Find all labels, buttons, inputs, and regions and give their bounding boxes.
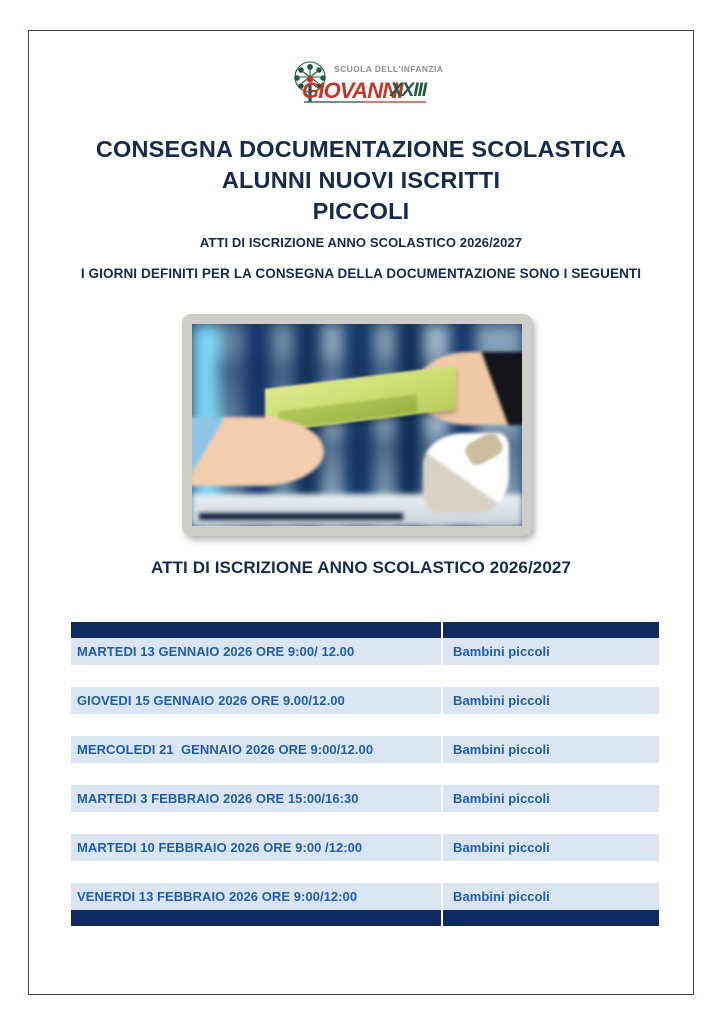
logo-roman-text: XXIII xyxy=(390,80,426,102)
table-spacer-row xyxy=(70,665,660,687)
table-cell-group: Bambini piccoli xyxy=(442,638,660,665)
table-row[interactable]: VENERDI 13 FEBBRAIO 2026 ORE 9:00/12:00 … xyxy=(70,883,660,910)
table-cell-date: MARTEDI 3 FEBBRAIO 2026 ORE 15:00/16:30 xyxy=(70,785,442,812)
table-cell-group: Bambini piccoli xyxy=(442,687,660,714)
table-cell-date: MARTEDI 13 GENNAIO 2026 ORE 9:00/ 12.00 xyxy=(70,638,442,665)
table-spacer-row xyxy=(70,714,660,736)
photo-desk-edge xyxy=(199,513,404,520)
table-cell-date: MERCOLEDI 21 GENNAIO 2026 ORE 9:00/12.00 xyxy=(70,736,442,763)
table-footer-cell-date xyxy=(70,910,442,926)
table-spacer-row xyxy=(70,861,660,883)
logo-underline xyxy=(304,101,426,103)
schedule-table: MARTEDI 13 GENNAIO 2026 ORE 9:00/ 12.00 … xyxy=(69,622,661,926)
table-cell-date: VENERDI 13 FEBBRAIO 2026 ORE 9:00/12:00 xyxy=(70,883,442,910)
table-cell-group: Bambini piccoli xyxy=(442,883,660,910)
table-row[interactable]: MERCOLEDI 21 GENNAIO 2026 ORE 9:00/12.00… xyxy=(70,736,660,763)
subtitle-school-year: ATTI DI ISCRIZIONE ANNO SCOLASTICO 2026/… xyxy=(29,231,693,255)
table-footer-cell-group xyxy=(442,910,660,926)
table-row[interactable]: MARTEDI 10 FEBBRAIO 2026 ORE 9:00 /12:00… xyxy=(70,834,660,861)
photo-hand-left xyxy=(192,417,324,486)
table-row[interactable]: GIOVEDI 15 GENNAIO 2026 ORE 9.00/12.00 B… xyxy=(70,687,660,714)
subtitle-instructions: I GIORNI DEFINITI PER LA CONSEGNA DELLA … xyxy=(29,263,693,285)
table-cell-date: GIOVEDI 15 GENNAIO 2026 ORE 9.00/12.00 xyxy=(70,687,442,714)
document-handover-photo xyxy=(192,324,522,526)
table-row[interactable]: MARTEDI 13 GENNAIO 2026 ORE 9:00/ 12.00 … xyxy=(70,638,660,665)
table-cell-group: Bambini piccoli xyxy=(442,736,660,763)
document-title-block: CONSEGNA DOCUMENTAZIONE SCOLASTICA ALUNN… xyxy=(29,134,693,285)
table-cell-group: Bambini piccoli xyxy=(442,834,660,861)
photo-caption: ATTI DI ISCRIZIONE ANNO SCOLASTICO 2026/… xyxy=(29,558,693,578)
page-title-line-3: PICCOLI xyxy=(29,196,693,227)
schedule-table-wrap: MARTEDI 13 GENNAIO 2026 ORE 9:00/ 12.00 … xyxy=(69,622,659,926)
page-title-line-1: CONSEGNA DOCUMENTAZIONE SCOLASTICA xyxy=(29,134,693,165)
table-cell-group: Bambini piccoli xyxy=(442,785,660,812)
photo-frame xyxy=(182,314,532,536)
table-cell-date: MARTEDI 10 FEBBRAIO 2026 ORE 9:00 /12:00 xyxy=(70,834,442,861)
logo-school-text: SCUOLA DELL'INFANZIA xyxy=(334,64,443,74)
table-header-band xyxy=(70,622,660,638)
table-spacer-row xyxy=(70,763,660,785)
page-title-line-2: ALUNNI NUOVI ISCRITTI xyxy=(29,165,693,196)
table-header-cell-date xyxy=(70,622,442,638)
school-logo: SCUOLA DELL'INFANZIA GIOVANNI XXIII xyxy=(29,59,693,111)
table-footer-band xyxy=(70,910,660,926)
page-border-frame: SCUOLA DELL'INFANZIA GIOVANNI XXIII CONS… xyxy=(28,30,694,995)
table-spacer-row xyxy=(70,812,660,834)
table-header-cell-group xyxy=(442,622,660,638)
table-row[interactable]: MARTEDI 3 FEBBRAIO 2026 ORE 15:00/16:30 … xyxy=(70,785,660,812)
